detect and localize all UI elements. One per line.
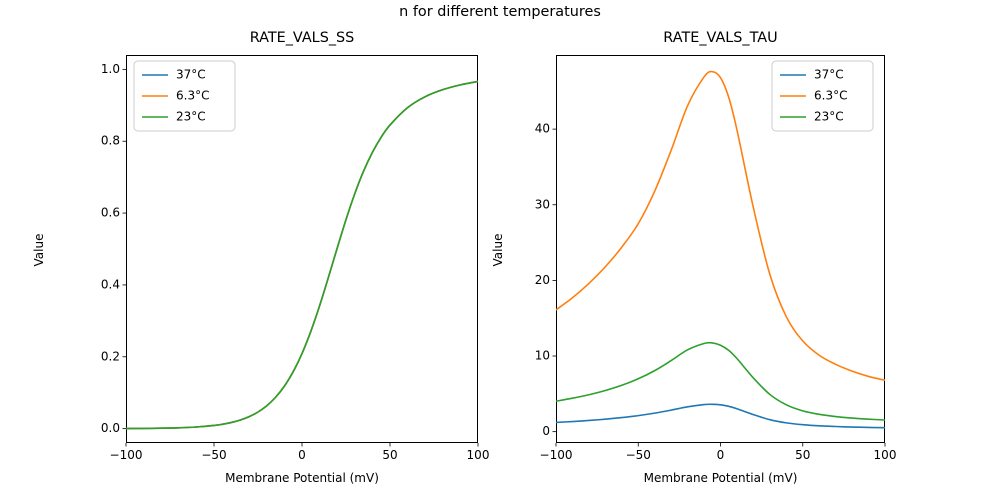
- legend-label-1: 6.3°C: [176, 89, 209, 103]
- y-tick-label: 20: [535, 273, 550, 287]
- x-tick-label: 100: [467, 448, 490, 462]
- curve-6.3C: [126, 81, 478, 428]
- legend-rate_vals_tau[interactable]: 37°C6.3°C23°C: [772, 61, 873, 131]
- y-tick-label: 1.0: [101, 62, 120, 76]
- x-tick-label: −100: [110, 448, 143, 462]
- legend-rate_vals_ss[interactable]: 37°C6.3°C23°C: [134, 61, 235, 131]
- y-tick-label: 0.4: [101, 277, 120, 291]
- x-tick-label: 0: [717, 448, 725, 462]
- x-tick-label: 50: [382, 448, 397, 462]
- x-tick-label: −50: [201, 448, 226, 462]
- x-tick-label: 100: [874, 448, 897, 462]
- curve-23C: [556, 343, 885, 420]
- curve-23C: [126, 81, 478, 428]
- legend-label-0: 37°C: [176, 68, 206, 82]
- y-tick-label: 0.8: [101, 134, 120, 148]
- legend-label-2: 23°C: [814, 110, 844, 124]
- y-tick-label: 0: [542, 424, 550, 438]
- y-tick-label: 0.6: [101, 206, 120, 220]
- legend-label-1: 6.3°C: [814, 89, 847, 103]
- legend-label-2: 23°C: [176, 110, 206, 124]
- x-tick-label: −50: [626, 448, 651, 462]
- legend-label-0: 37°C: [814, 68, 844, 82]
- y-tick-label: 0.0: [101, 421, 120, 435]
- axes-rate_vals_ss: −100−500501000.00.20.40.60.81.037°C6.3°C…: [101, 56, 490, 462]
- x-tick-label: 50: [795, 448, 810, 462]
- x-tick-label: −100: [540, 448, 573, 462]
- y-tick-label: 40: [535, 122, 550, 136]
- curves-rate_vals_ss: [126, 81, 478, 428]
- curve-37C: [126, 81, 478, 428]
- matplotlib-figure: n for different temperatures RATE_VALS_S…: [0, 0, 1000, 500]
- axes-rate_vals_tau: −100−5005010001020304037°C6.3°C23°C: [535, 56, 897, 462]
- y-tick-label: 0.2: [101, 349, 120, 363]
- x-tick-label: 0: [298, 448, 306, 462]
- y-tick-label: 10: [535, 349, 550, 363]
- y-tick-label: 30: [535, 197, 550, 211]
- plot-canvas: −100−500501000.00.20.40.60.81.037°C6.3°C…: [0, 0, 1000, 500]
